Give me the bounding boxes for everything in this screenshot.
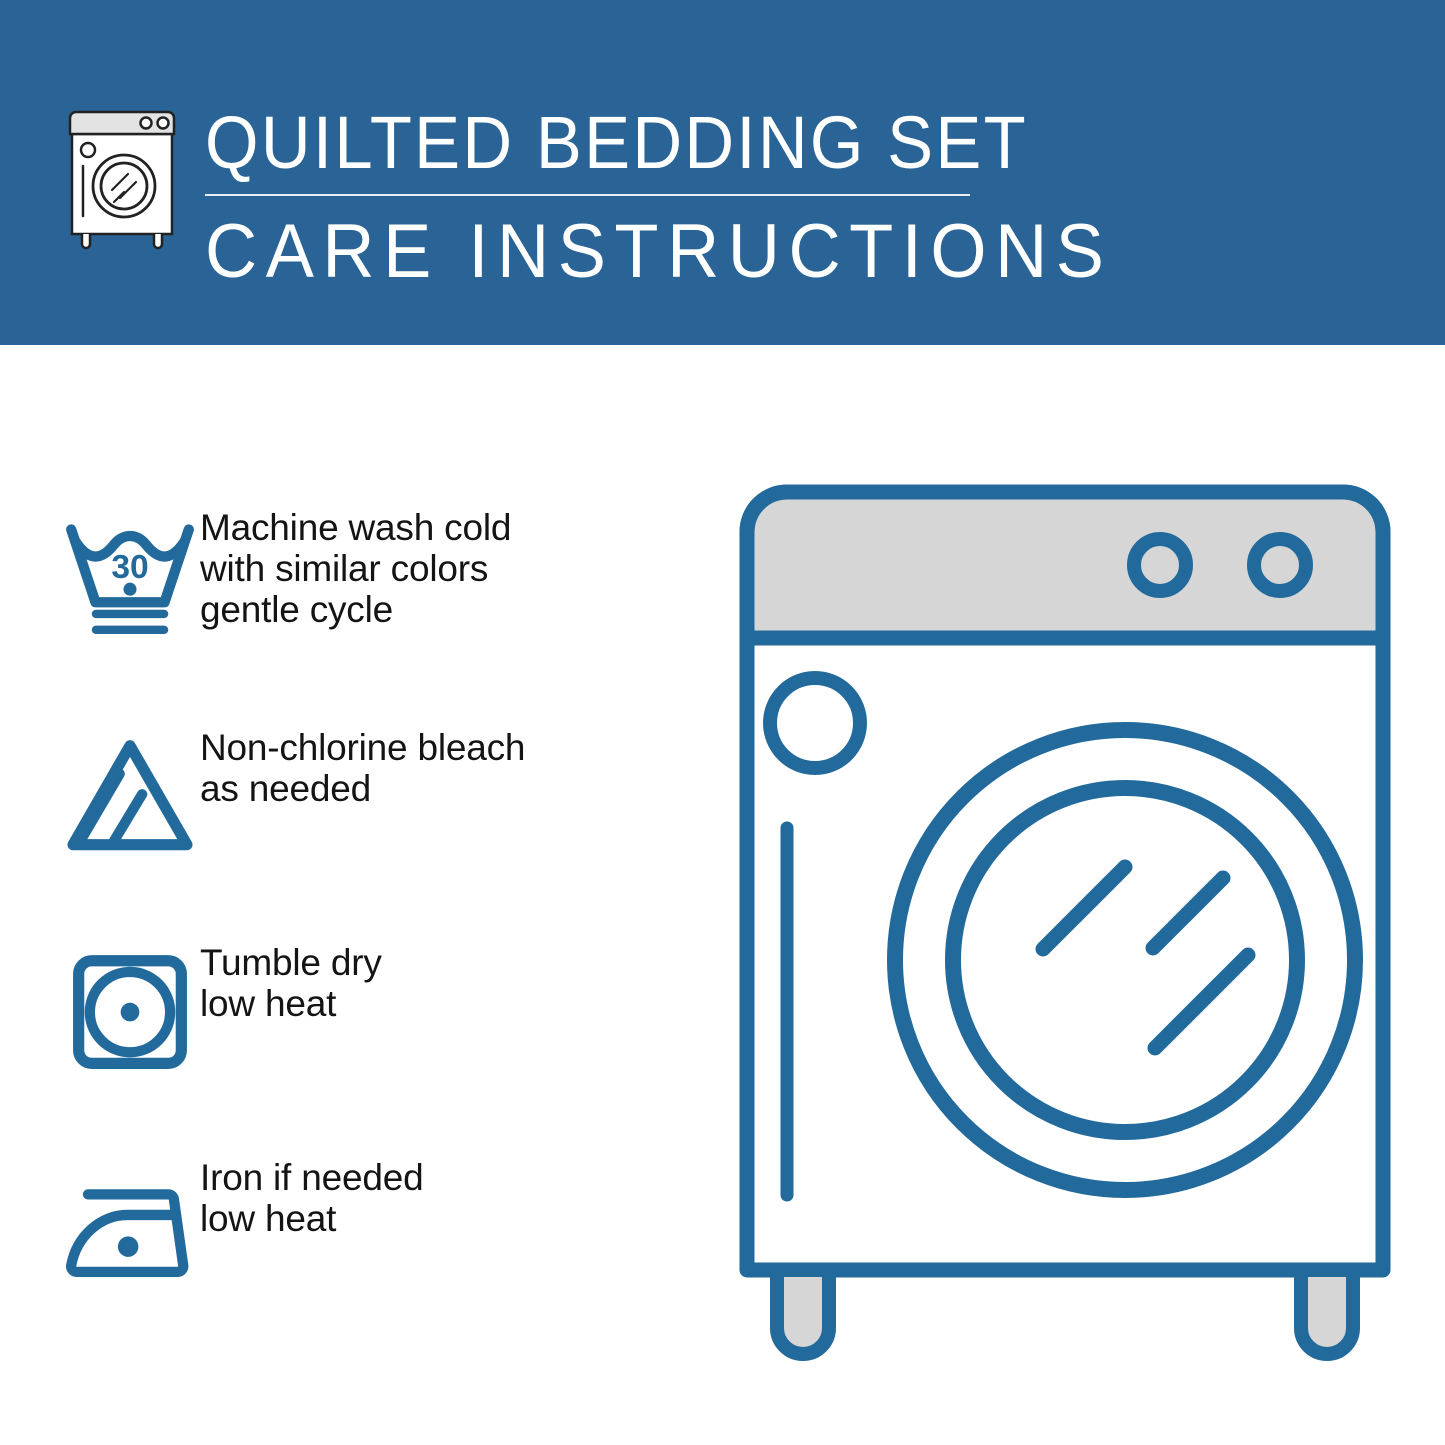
care-item-iron: Iron if needed low heat: [0, 1145, 700, 1310]
page-subtitle: CARE INSTRUCTIONS: [205, 210, 965, 294]
care-item-tumble-dry-label: Tumble dry low heat: [200, 930, 382, 1024]
header-text-block: QUILTED BEDDING SET CARE INSTRUCTIONS: [205, 102, 1005, 294]
leg-right: [1301, 1270, 1353, 1354]
wash-temperature-label: 30: [111, 549, 148, 586]
header-band: QUILTED BEDDING SET CARE INSTRUCTIONS: [0, 0, 1445, 345]
leg-left: [777, 1270, 829, 1354]
page-title: QUILTED BEDDING SET: [205, 102, 949, 184]
washing-machine-icon: [62, 104, 182, 252]
care-item-bleach-label: Non-chlorine bleach as needed: [200, 715, 525, 809]
care-instructions-page: QUILTED BEDDING SET CARE INSTRUCTIONS 30…: [0, 0, 1445, 1445]
care-line: low heat: [200, 983, 382, 1024]
care-line: as needed: [200, 768, 525, 809]
iron-low-heat-icon: [0, 1145, 200, 1310]
care-item-wash: 30 Machine wash cold with similar colors…: [0, 495, 700, 660]
care-item-iron-label: Iron if needed low heat: [200, 1145, 423, 1239]
wash-tub-30-gentle-icon: 30: [0, 495, 200, 660]
tumble-dry-low-heat-icon: [0, 930, 200, 1095]
care-line: low heat: [200, 1198, 423, 1239]
care-line: Iron if needed: [200, 1157, 423, 1198]
care-line: with similar colors: [200, 548, 511, 589]
washing-machine-illustration: [725, 470, 1405, 1370]
care-line: Tumble dry: [200, 942, 382, 983]
care-instruction-list: 30 Machine wash cold with similar colors…: [0, 345, 700, 1445]
care-item-tumble-dry: Tumble dry low heat: [0, 930, 700, 1095]
care-line: Non-chlorine bleach: [200, 727, 525, 768]
care-item-bleach: Non-chlorine bleach as needed: [0, 715, 700, 880]
care-line: gentle cycle: [200, 589, 511, 630]
care-item-wash-label: Machine wash cold with similar colors ge…: [200, 495, 511, 630]
non-chlorine-bleach-triangle-icon: [0, 715, 200, 880]
title-divider: [205, 194, 970, 196]
care-line: Machine wash cold: [200, 507, 511, 548]
